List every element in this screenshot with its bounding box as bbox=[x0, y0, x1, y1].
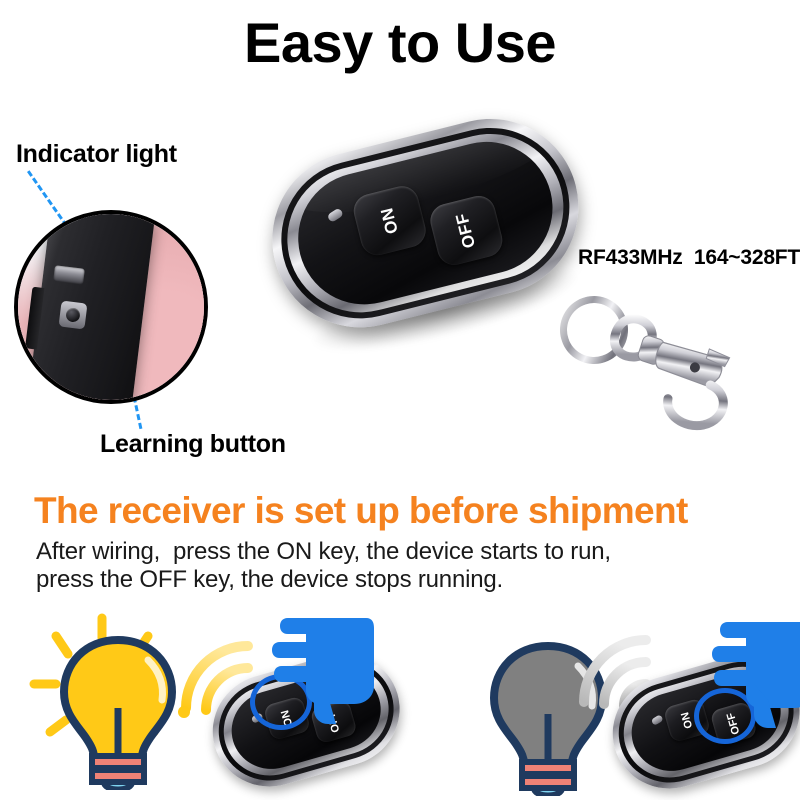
instructions-line-1: After wiring, press the ON key, the devi… bbox=[36, 538, 611, 566]
remote-button-on-label: ON bbox=[377, 205, 403, 236]
learning-button-icon bbox=[59, 301, 88, 330]
learning-button-label: Learning button bbox=[100, 430, 286, 459]
receiver-closeup-photo bbox=[14, 210, 208, 404]
infographic-page: Easy to Use Indicator light Learning but… bbox=[0, 0, 800, 800]
scene-lamp-off: ON OFF bbox=[452, 618, 800, 794]
led-indicator-icon bbox=[327, 207, 344, 223]
remote-button-off-label: OFF bbox=[452, 211, 480, 250]
pointing-hand-icon bbox=[710, 618, 800, 738]
scene-lamp-on: ON OFF bbox=[22, 612, 382, 792]
remote-button-off[interactable]: OFF bbox=[427, 192, 506, 268]
indicator-light-label: Indicator light bbox=[16, 140, 177, 169]
light-bulb-on-icon bbox=[48, 630, 188, 790]
remote-button-on[interactable]: ON bbox=[350, 183, 429, 259]
page-title: Easy to Use bbox=[0, 14, 800, 73]
instructions-headline: The receiver is set up before shipment bbox=[34, 490, 688, 532]
spec-text: RF433MHz 164~328FT bbox=[578, 246, 800, 270]
mini-led-icon bbox=[651, 714, 664, 726]
pointing-hand-icon bbox=[270, 614, 378, 734]
mini-remote-button-on-label: ON bbox=[679, 711, 695, 730]
instructions-line-2: press the OFF key, the device stops runn… bbox=[36, 566, 503, 594]
